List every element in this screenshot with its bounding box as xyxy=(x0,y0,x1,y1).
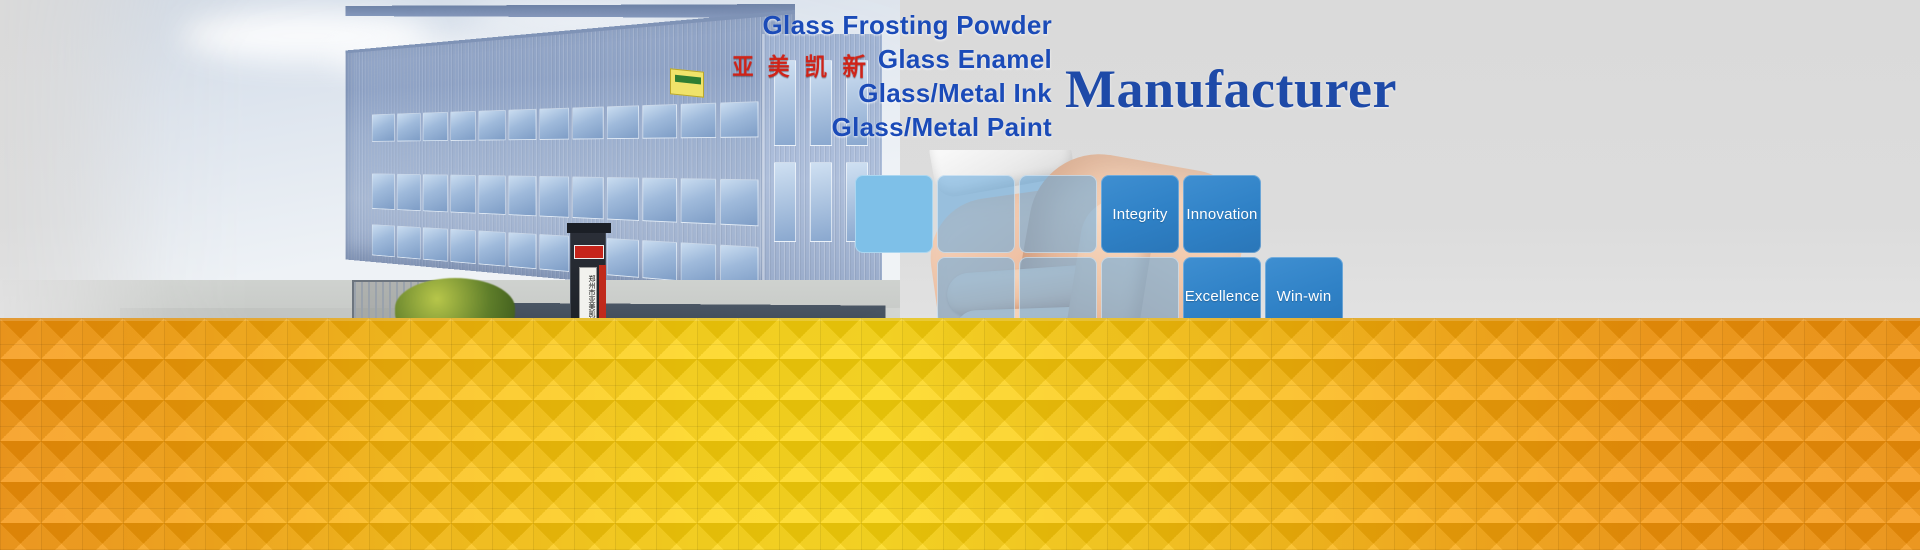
headline-line-3: Glass/Metal Ink xyxy=(0,76,1052,110)
headline-line-1: Glass Frosting Powder xyxy=(0,8,1052,42)
mosaic-tile xyxy=(855,175,933,253)
orange-pyramid-band xyxy=(0,318,1920,550)
value-tile-label: Integrity xyxy=(1101,175,1179,253)
monument-red-plate xyxy=(574,245,604,259)
value-tile-integrity: Integrity xyxy=(1101,175,1179,253)
manufacturer-word: Manufacturer xyxy=(1065,60,1397,118)
mosaic-tile xyxy=(1019,175,1097,253)
headline-line-4: Glass/Metal Paint xyxy=(0,110,1052,144)
window-band xyxy=(372,173,758,226)
promo-banner: 亚 美 凯 新 郑州市亚美凯新材料有限公司 Glass Frosting Pow… xyxy=(0,0,1920,550)
band-top-edge xyxy=(0,318,1920,321)
headline-block: Glass Frosting Powder Glass Enamel Glass… xyxy=(0,8,1060,144)
headline-line-2: Glass Enamel xyxy=(0,42,1052,76)
value-tile-innovation: Innovation xyxy=(1183,175,1261,253)
value-tile-label: Innovation xyxy=(1183,175,1261,253)
pyramid-grid-lines xyxy=(0,318,1920,550)
mosaic-tile xyxy=(937,175,1015,253)
